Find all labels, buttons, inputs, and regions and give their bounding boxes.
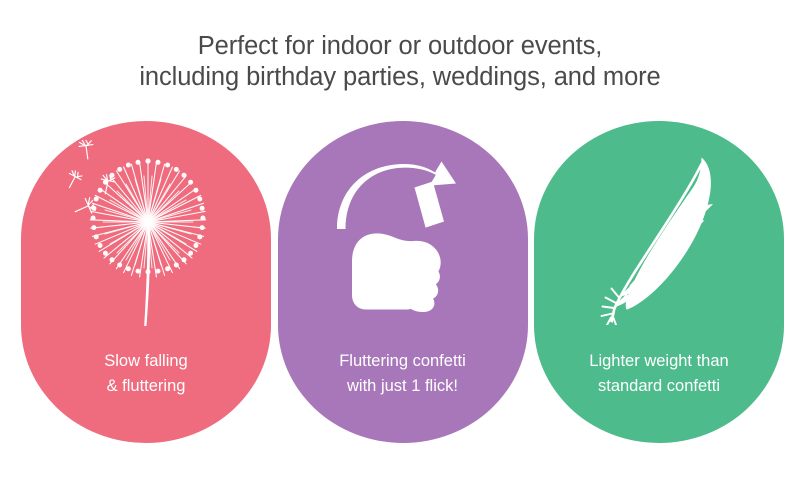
feature-card-row: Slow falling & fluttering bbox=[21, 121, 784, 443]
feature-card-fluttering-confetti[interactable]: Fluttering confetti with just 1 flick! bbox=[278, 121, 528, 443]
infographic-panel: Perfect for indoor or outdoor events, in… bbox=[0, 0, 800, 495]
hand-flick-icon bbox=[278, 121, 528, 349]
dandelion-icon bbox=[21, 121, 271, 349]
feather-icon bbox=[534, 121, 784, 349]
page-title: Perfect for indoor or outdoor events, in… bbox=[0, 31, 800, 93]
feature-card-lighter-weight[interactable]: Lighter weight than standard confetti bbox=[534, 121, 784, 443]
feature-card-caption: Lighter weight than standard confetti bbox=[534, 349, 784, 399]
feature-card-caption: Slow falling & fluttering bbox=[21, 349, 271, 399]
feature-card-caption: Fluttering confetti with just 1 flick! bbox=[278, 349, 528, 399]
feature-card-slow-falling[interactable]: Slow falling & fluttering bbox=[21, 121, 271, 443]
